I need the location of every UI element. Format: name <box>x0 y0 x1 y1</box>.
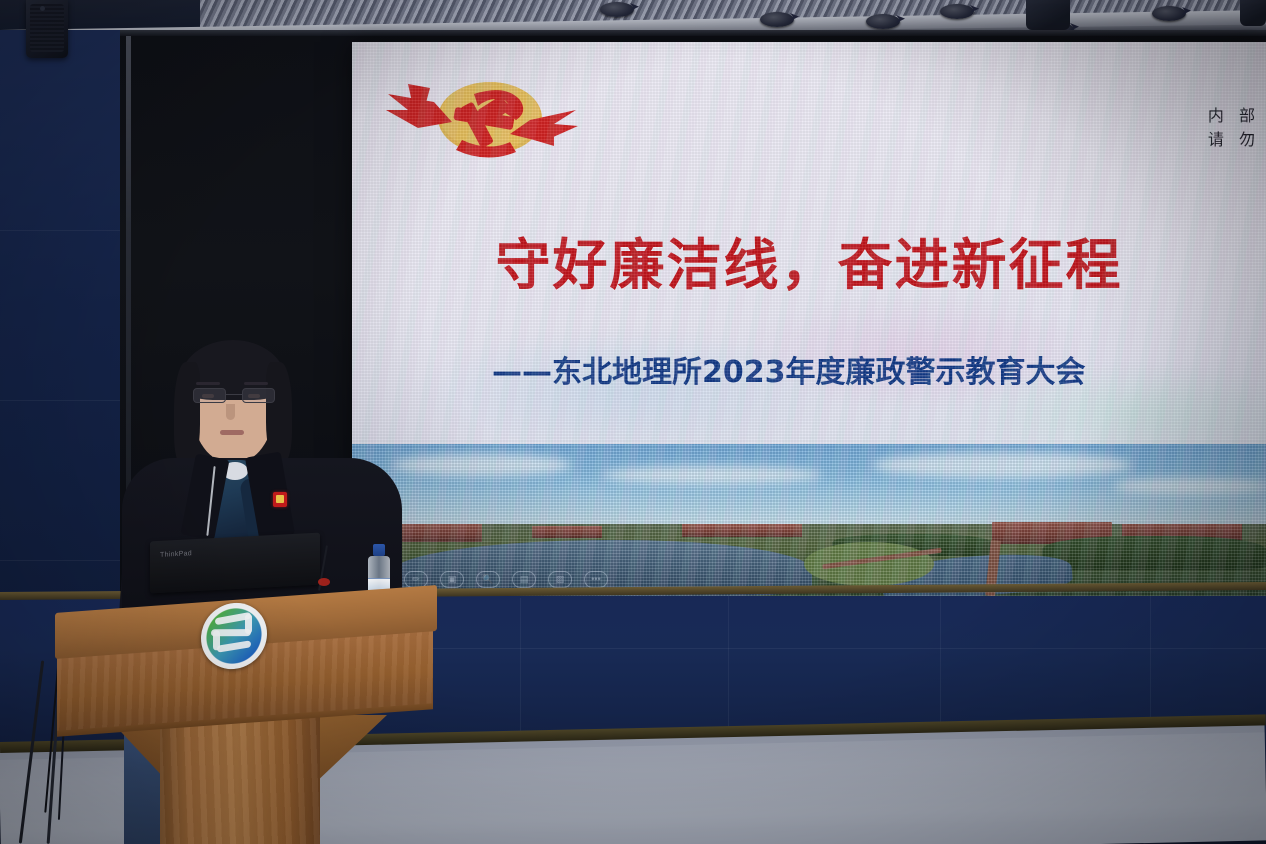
presentation-slide: 内 部 请 勿 守好廉洁线，奋进新征程 ——东北地理所2023年度廉政警示教育大… <box>352 42 1266 596</box>
photo-cloud <box>872 452 1132 478</box>
hair-side-right <box>266 362 292 462</box>
wall-panel-seam <box>420 648 1266 649</box>
slides-icon[interactable]: ▤ <box>512 571 536 588</box>
more-options-icon[interactable]: ••• <box>584 571 608 588</box>
party-pin-badge <box>273 492 287 507</box>
screen-surround-highlight <box>120 30 1266 36</box>
ceiling-spotlight <box>600 2 634 17</box>
screen-off-icon[interactable]: ▨ <box>548 571 572 588</box>
wooden-podium <box>55 585 455 844</box>
slide-watermark: 内 部 请 勿 <box>1208 104 1260 152</box>
wall-speaker-right <box>1026 0 1070 30</box>
eyebrow-left <box>196 382 220 385</box>
podium-wing-right <box>313 715 387 785</box>
conference-room-scene: 内 部 请 勿 守好廉洁线，奋进新征程 ——东北地理所2023年度廉政警示教育大… <box>0 0 1266 844</box>
ceiling-spotlight <box>1152 6 1186 21</box>
ceiling-spotlight <box>940 4 974 19</box>
zoom-icon[interactable]: 🔍 <box>476 571 500 588</box>
speaker-mesh <box>30 4 64 52</box>
slide-title: 守好廉洁线，奋进新征程 <box>352 220 1266 300</box>
wall-panel-seam <box>728 596 729 746</box>
cpc-party-emblem-icon <box>378 66 586 164</box>
wall-speaker-far-right <box>1240 0 1266 26</box>
lens-left <box>193 388 226 403</box>
wall-panel-seam <box>520 598 521 746</box>
photo-cloud <box>602 466 822 484</box>
wall-speaker-left <box>26 0 68 58</box>
ceiling-spotlight <box>760 12 794 27</box>
led-display-screen: 内 部 请 勿 守好廉洁线，奋进新征程 ——东北地理所2023年度廉政警示教育大… <box>352 42 1266 596</box>
wall-seam <box>0 400 132 401</box>
photo-building <box>532 526 602 538</box>
hair-side-left <box>174 362 200 466</box>
nose <box>226 404 235 420</box>
mouth <box>220 430 244 435</box>
ceiling-spotlight <box>866 14 900 29</box>
logo-wave <box>245 614 252 635</box>
bottle-cap <box>373 544 385 556</box>
speaker-led-icon <box>40 6 45 11</box>
watermark-line-2: 请 勿 <box>1208 128 1260 152</box>
podium-column <box>160 717 320 844</box>
slide-subtitle: ——东北地理所2023年度廉政警示教育大会 <box>492 347 1266 391</box>
watermark-line-1: 内 部 <box>1208 104 1260 128</box>
photo-building <box>682 524 802 537</box>
logo-wave <box>217 640 251 652</box>
wall-seam <box>0 560 132 561</box>
eyebrow-right <box>244 382 268 385</box>
photo-cloud <box>392 454 572 476</box>
glasses-bridge <box>226 394 242 395</box>
wall-seam <box>0 230 132 231</box>
logo-wave <box>213 630 220 651</box>
photo-treeline <box>1042 536 1266 570</box>
lens-right <box>242 388 275 403</box>
eyeglasses-icon <box>192 388 276 403</box>
photo-cloud <box>1112 478 1266 494</box>
